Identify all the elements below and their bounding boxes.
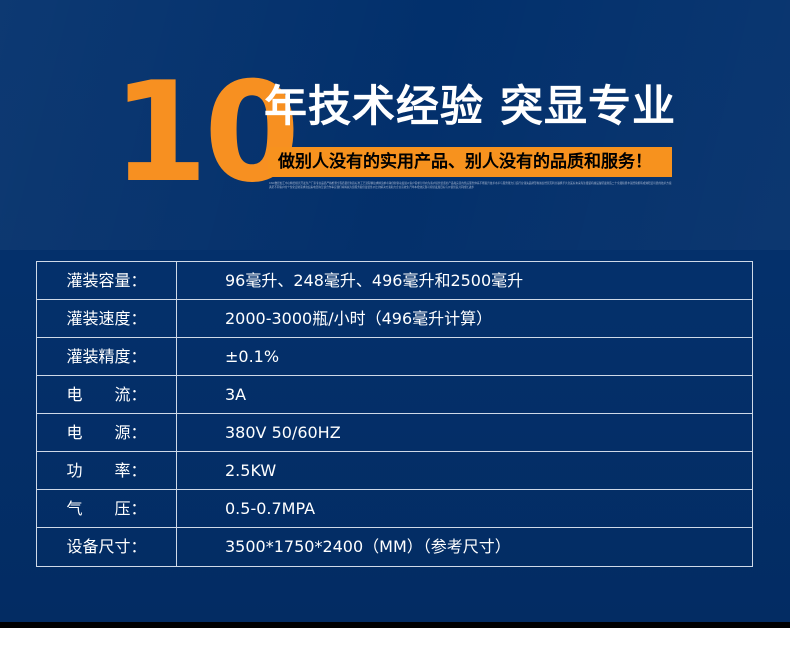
table-row: 功 率： 2.5KW xyxy=(37,452,752,490)
spec-value-cell: 2000-3000瓶/小时（496毫升计算） xyxy=(177,300,752,337)
table-row: 电 源： 380V 50/60HZ xyxy=(37,414,752,452)
table-row: 灌装容量： 96毫升、248毫升、496毫升和2500毫升 xyxy=(37,262,752,300)
spec-value: 0.5-0.7MPA xyxy=(225,501,315,517)
headline-text: 年技术经验 突显专业 xyxy=(264,86,676,129)
spec-label-cell: 灌装容量： xyxy=(37,262,177,299)
spec-label: 功 率： xyxy=(66,463,146,479)
spec-label-cell: 气 压： xyxy=(37,490,177,527)
spec-label: 灌装精度： xyxy=(66,349,146,365)
spec-label-cell: 功 率： xyxy=(37,452,177,489)
spec-label: 设备尺寸： xyxy=(66,539,146,555)
spec-label: 气 压： xyxy=(66,501,146,517)
spec-value-cell: 3500*1750*2400（MM）（参考尺寸） xyxy=(177,528,752,566)
spec-value: 2.5KW xyxy=(225,463,276,479)
table-row: 电 流： 3A xyxy=(37,376,752,414)
spec-label: 灌装速度： xyxy=(66,311,146,327)
table-row: 气 压： 0.5-0.7MPA xyxy=(37,490,752,528)
spec-value-cell: ±0.1% xyxy=(177,338,752,375)
spec-value: 3500*1750*2400（MM）（参考尺寸） xyxy=(225,539,511,555)
spec-value: 3A xyxy=(225,387,246,403)
spec-value: 2000-3000瓶/小时（496毫升计算） xyxy=(225,311,492,327)
table-row: 灌装精度： ±0.1% xyxy=(37,338,752,376)
bottom-divider-bar xyxy=(0,622,790,628)
spec-value: ±0.1% xyxy=(225,349,279,365)
spec-label-cell: 设备尺寸： xyxy=(37,528,177,566)
specification-table: 灌装容量： 96毫升、248毫升、496毫升和2500毫升 灌装速度： 2000… xyxy=(36,261,753,567)
spec-value-cell: 2.5KW xyxy=(177,452,752,489)
spec-value: 380V 50/60HZ xyxy=(225,425,341,441)
subtitle-highlight-bar: 做别人没有的实用产品、别人没有的品质和服务！ xyxy=(268,147,672,177)
hero-banner: 10 年技术经验 突显专业 做别人没有的实用产品、别人没有的品质和服务！ CNC… xyxy=(0,0,790,250)
spec-value-cell: 380V 50/60HZ xyxy=(177,414,752,451)
spec-label-cell: 电 源： xyxy=(37,414,177,451)
spec-value: 96毫升、248毫升、496毫升和2500毫升 xyxy=(225,273,523,289)
spec-label-cell: 灌装精度： xyxy=(37,338,177,375)
spec-label-cell: 电 流： xyxy=(37,376,177,413)
decorative-microtext: CNC数控加工中心精密模具开发生产厂家专业品质严格检测全程质量控制高标准工艺流程… xyxy=(269,182,673,191)
spec-value-cell: 96毫升、248毫升、496毫升和2500毫升 xyxy=(177,262,752,299)
table-row: 设备尺寸： 3500*1750*2400（MM）（参考尺寸） xyxy=(37,528,752,566)
spec-label-cell: 灌装速度： xyxy=(37,300,177,337)
spec-label: 灌装容量： xyxy=(66,273,146,289)
spec-value-cell: 3A xyxy=(177,376,752,413)
table-row: 灌装速度： 2000-3000瓶/小时（496毫升计算） xyxy=(37,300,752,338)
product-spec-poster: 10 年技术经验 突显专业 做别人没有的实用产品、别人没有的品质和服务！ CNC… xyxy=(0,0,790,645)
spec-label: 电 源： xyxy=(66,425,146,441)
spec-label: 电 流： xyxy=(66,387,146,403)
spec-value-cell: 0.5-0.7MPA xyxy=(177,490,752,527)
subtitle-text: 做别人没有的实用产品、别人没有的品质和服务！ xyxy=(278,154,652,171)
